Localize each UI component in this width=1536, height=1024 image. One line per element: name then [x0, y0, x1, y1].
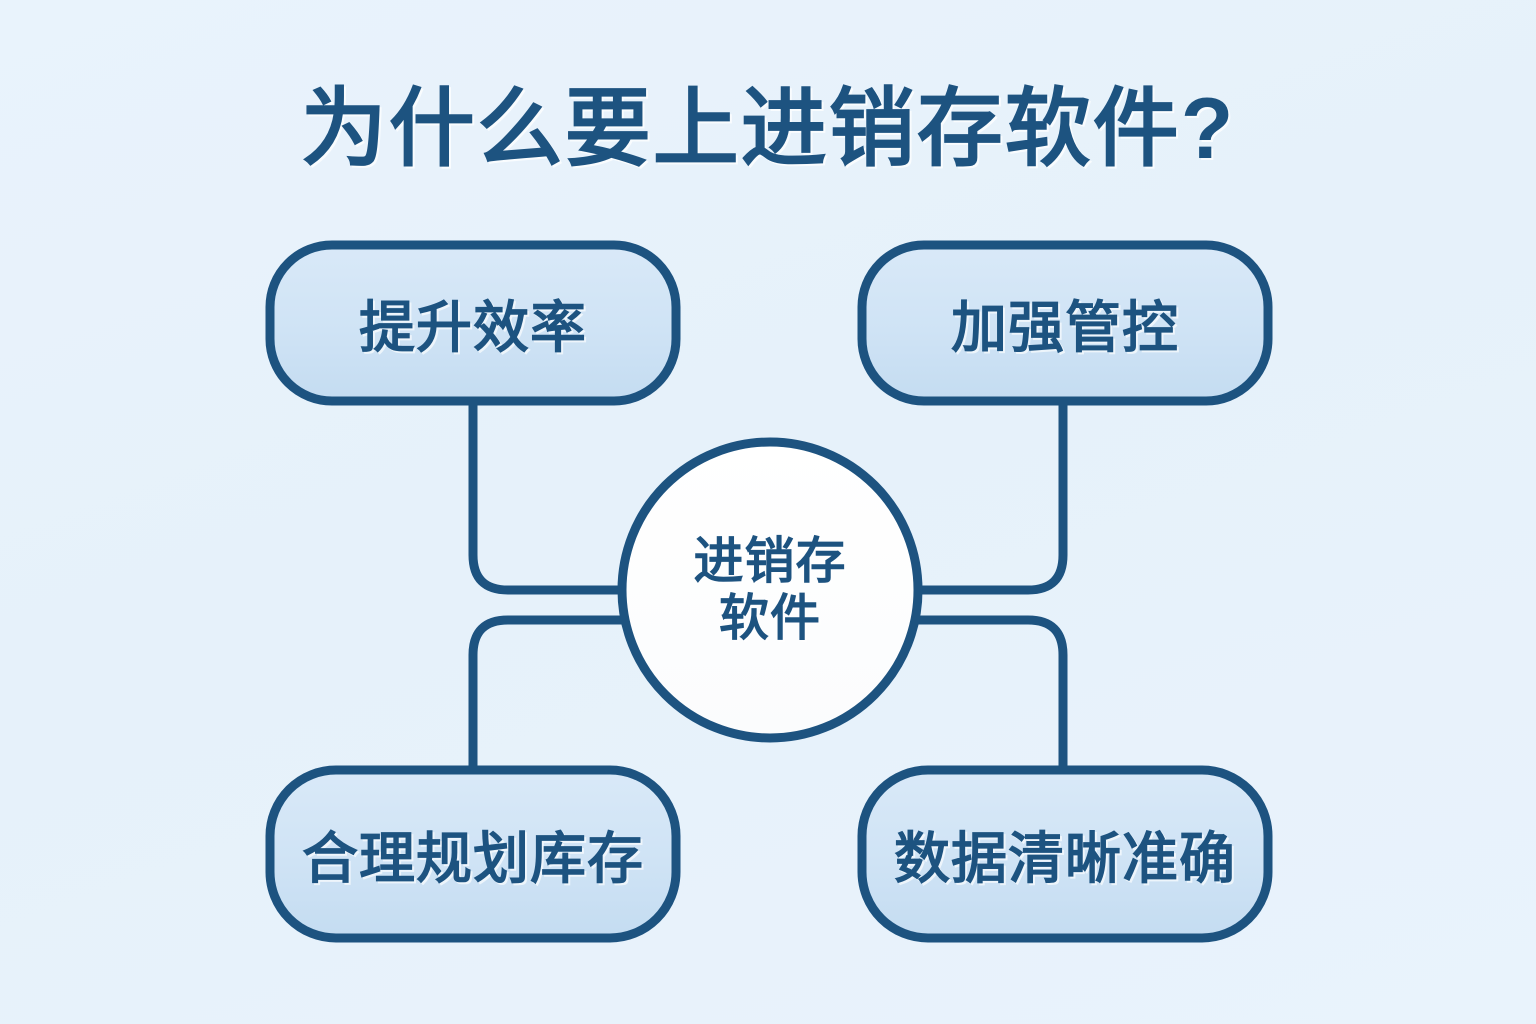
- center-node-circle[interactable]: [622, 442, 918, 738]
- node-box-bottom-right[interactable]: [862, 770, 1268, 938]
- diagram-canvas: 为什么要上进销存软件?: [0, 0, 1536, 1024]
- connector-bottom-right: [908, 620, 1063, 770]
- connector-top-left: [473, 400, 632, 590]
- node-box-bottom-left[interactable]: [270, 770, 676, 938]
- node-box-top-right[interactable]: [862, 245, 1268, 401]
- connector-top-right: [908, 400, 1063, 590]
- node-box-top-left[interactable]: [270, 245, 676, 401]
- diagram-graphics: [0, 0, 1536, 1024]
- connector-bottom-left: [473, 620, 632, 770]
